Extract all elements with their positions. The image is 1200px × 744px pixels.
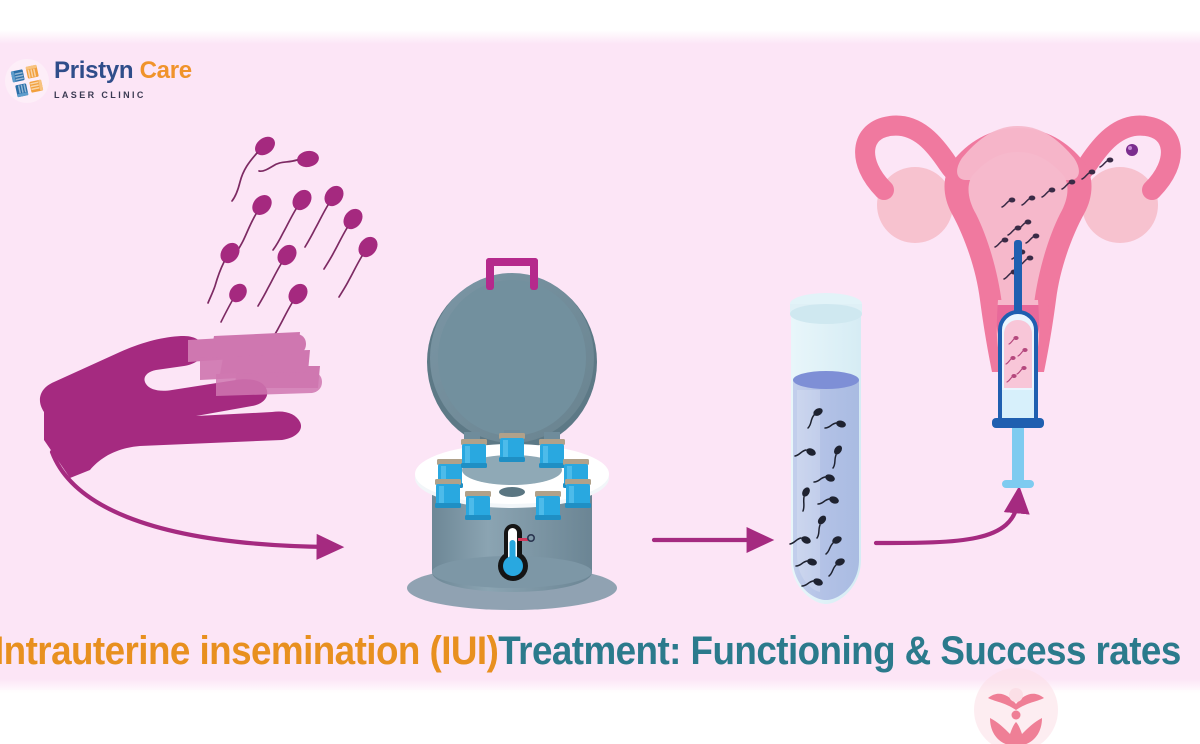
ovary-left xyxy=(877,167,953,243)
page-title-orange: Intrauterine insemination (IUI) xyxy=(0,629,498,673)
syringe-flange xyxy=(992,418,1044,428)
pink-lotus-figure-watermark xyxy=(974,668,1058,744)
test-tube-illustration xyxy=(790,293,862,604)
syringe-plunger-head xyxy=(1002,480,1034,488)
ovum-icon xyxy=(1126,144,1138,156)
hand-illustration xyxy=(40,316,322,478)
centrifuge-lid xyxy=(427,258,597,454)
centrifuge-illustration xyxy=(407,258,617,610)
page-title-teal: Treatment: Functioning & Success rates xyxy=(498,629,1180,673)
rotor-latch xyxy=(499,487,525,497)
infographic-canvas: Pristyn Care LASER CLINIC xyxy=(0,0,1200,744)
page-title: Intrauterine insemination (IUI)Treatment… xyxy=(0,631,1116,671)
arrow-tube-to-uterus xyxy=(876,500,1018,543)
sperm-cloud-group xyxy=(208,133,381,344)
sperm-cell xyxy=(233,191,276,258)
syringe xyxy=(992,312,1044,488)
syringe-plunger xyxy=(1012,428,1024,484)
sperm-cell xyxy=(339,233,381,297)
sperm-cell xyxy=(221,280,250,322)
ovary-right xyxy=(1082,167,1158,243)
uterus-illustration xyxy=(865,126,1171,488)
centrifuge-rotor xyxy=(415,433,609,520)
arrow-hand-to-centrifuge xyxy=(52,452,330,547)
